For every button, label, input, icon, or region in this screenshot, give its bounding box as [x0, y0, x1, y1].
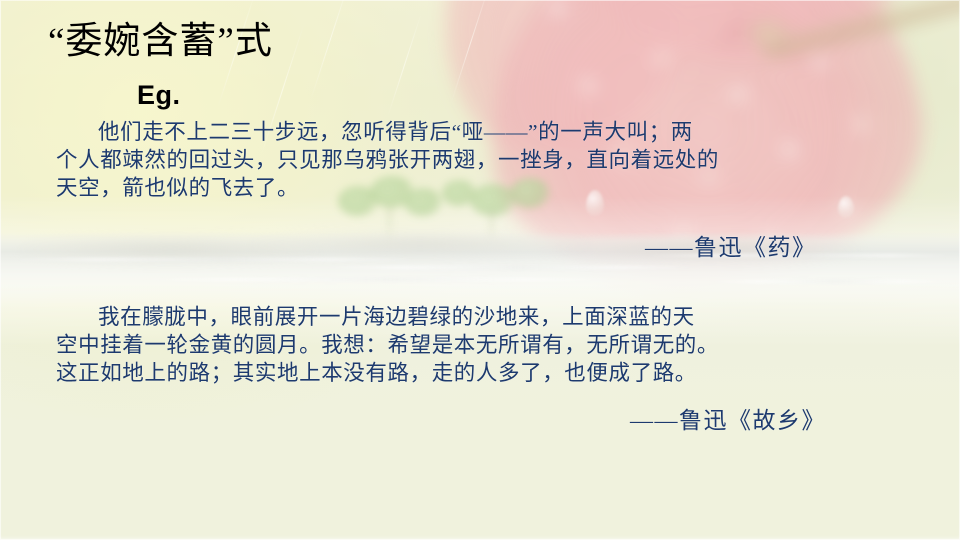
quote-attribution-medicine: ——鲁迅《药》 — [645, 233, 817, 263]
quote-attribution-hometown: ——鲁迅《故乡》 — [630, 406, 826, 436]
quote-block-lu-xun-hometown: 我在朦胧中，眼前展开一片海边碧绿的沙地来，上面深蓝的天 空中挂着一轮金黄的圆月。… — [56, 303, 916, 387]
quote-line: 空中挂着一轮金黄的圆月。我想：希望是本无所谓有，无所谓无的。 — [56, 331, 916, 359]
slide-content: “委婉含蓄”式 Eg. 他们走不上二三十步远，忽听得背后“哑——”的一声大叫；两… — [0, 0, 960, 540]
quote-line: 天空，箭也似的飞去了。 — [56, 174, 916, 202]
quote-line: 个人都竦然的回过头，只见那乌鸦张开两翅，一挫身，直向着远处的 — [56, 146, 916, 174]
quote-line: 这正如地上的路；其实地上本没有路，走的人多了，也便成了路。 — [56, 359, 916, 387]
quote-line: 他们走不上二三十步远，忽听得背后“哑——”的一声大叫；两 — [56, 118, 916, 146]
quote-line: 我在朦胧中，眼前展开一片海边碧绿的沙地来，上面深蓝的天 — [56, 303, 916, 331]
example-label: Eg. — [137, 80, 181, 111]
slide-title: “委婉含蓄”式 — [48, 18, 273, 65]
quote-block-lu-xun-medicine: 他们走不上二三十步远，忽听得背后“哑——”的一声大叫；两 个人都竦然的回过头，只… — [56, 118, 916, 202]
presentation-slide: “委婉含蓄”式 Eg. 他们走不上二三十步远，忽听得背后“哑——”的一声大叫；两… — [0, 0, 960, 540]
